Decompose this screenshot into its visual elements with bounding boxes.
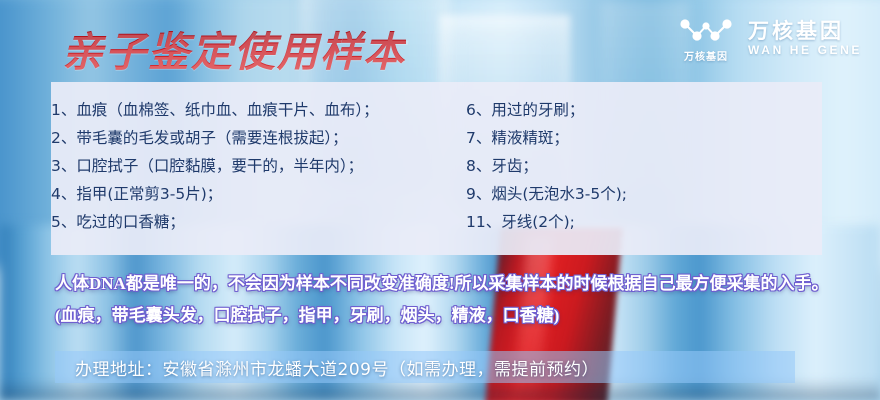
brand-name-cn: 万核基因 [748,21,862,43]
brand-name-en: WAN HE GENE [748,44,862,57]
brand-text: 万核基因 WAN HE GENE [748,21,862,57]
list-item: 8、牙齿； [466,152,796,180]
poster-root: 亲子鉴定使用样本 万核基因 [0,0,880,400]
list-item: 6、用过的牙刷； [466,96,796,124]
logo-mark: 万核基因 [678,16,734,63]
list-item: 5、吃过的口香糖； [51,208,466,236]
list-item: 7、精液精斑； [466,124,796,152]
explanatory-note: 人体DNA都是唯一的，不会因为样本不同改变准确度!所以采集样本的时候根据自己最方… [55,268,845,332]
list-item: 4、指甲(正常剪3-5片)； [51,180,466,208]
list-item: 2、带毛囊的毛发或胡子（需要连根拔起）； [51,124,466,152]
page-title: 亲子鉴定使用样本 [62,18,406,78]
sample-list-left-column: 1、血痕（血棉签、纸巾血、血痕干片、血布）； 2、带毛囊的毛发或胡子（需要连根拔… [51,82,466,255]
list-item: 9、烟头(无泡水3-5个); [466,180,796,208]
address-text: 办理地址：安徽省滁州市龙蟠大道209号（如需办理，需提前预约） [55,355,599,380]
list-item: 3、口腔拭子（口腔黏膜，要干的，半年内）； [51,152,466,180]
address-band: 办理地址：安徽省滁州市龙蟠大道209号（如需办理，需提前预约） [55,351,795,383]
list-item: 1、血痕（血棉签、纸巾血、血痕干片、血布）； [51,96,466,124]
sample-list-left: 1、血痕（血棉签、纸巾血、血痕干片、血布）； 2、带毛囊的毛发或胡子（需要连根拔… [51,96,466,236]
molecule-nodes-icon [678,16,734,46]
logo-mark-label: 万核基因 [684,48,728,63]
brand-lockup: 万核基因 万核基因 WAN HE GENE [678,16,862,63]
sample-list-right: 6、用过的牙刷； 7、精液精斑； 8、牙齿； 9、烟头(无泡水3-5个); 11… [466,96,796,236]
sample-list-panel: 1、血痕（血棉签、纸巾血、血痕干片、血布）； 2、带毛囊的毛发或胡子（需要连根拔… [51,82,822,255]
list-item: 11、牙线(2个); [466,208,796,236]
sample-list-right-column: 6、用过的牙刷； 7、精液精斑； 8、牙齿； 9、烟头(无泡水3-5个); 11… [466,82,796,255]
